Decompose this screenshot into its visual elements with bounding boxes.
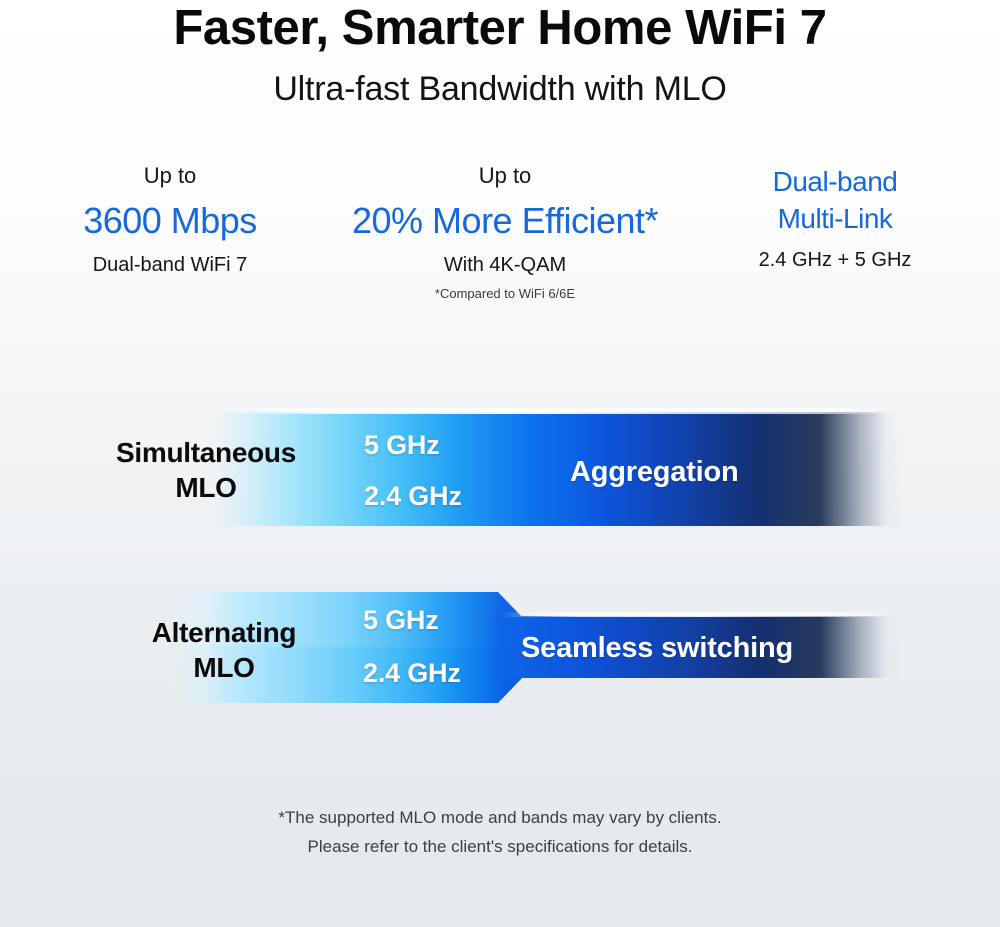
stat-footnote: *Compared to WiFi 6/6E	[340, 286, 670, 301]
page-subtitle: Ultra-fast Bandwidth with MLO	[0, 70, 1000, 109]
diagram-label-line1: Simultaneous	[86, 436, 326, 471]
band-label-24ghz: 2.4 GHz	[364, 481, 462, 512]
page-footnote: *The supported MLO mode and bands may va…	[0, 803, 1000, 862]
band-highlight-edge	[0, 408, 1000, 414]
stat-value: Dual-band Multi-Link	[670, 163, 1000, 237]
stat-card-efficiency: Up to 20% More Efficient* With 4K-QAM *C…	[340, 163, 670, 301]
diagram-label-line2: MLO	[86, 471, 326, 506]
wifi7-feature-page: Faster, Smarter Home WiFi 7 Ultra-fast B…	[0, 0, 1000, 927]
footnote-line2: Please refer to the client's specificati…	[0, 832, 1000, 861]
diagram-label-simultaneous: Simultaneous MLO	[86, 436, 326, 505]
stat-value-line2: Multi-Link	[670, 200, 1000, 237]
stat-caption: Dual-band WiFi 7	[0, 253, 340, 277]
stats-row: Up to 3600 Mbps Dual-band WiFi 7 Up to 2…	[0, 163, 1000, 301]
band-label-5ghz: 5 GHz	[364, 430, 440, 461]
stat-caption: With 4K-QAM	[340, 253, 670, 277]
stat-prefix: Up to	[0, 163, 340, 192]
page-title: Faster, Smarter Home WiFi 7	[0, 2, 1000, 55]
stat-card-multilink: Dual-band Multi-Link 2.4 GHz + 5 GHz	[670, 163, 1000, 272]
band-result-label: Seamless switching	[521, 632, 793, 665]
stat-value: 20% More Efficient*	[340, 200, 670, 242]
stat-value-line1: Dual-band	[670, 163, 1000, 200]
stat-value: 3600 Mbps	[0, 200, 340, 242]
footnote-line1: *The supported MLO mode and bands may va…	[0, 803, 1000, 832]
band-result-label: Aggregation	[570, 456, 739, 489]
stat-card-speed: Up to 3600 Mbps Dual-band WiFi 7	[0, 163, 340, 277]
diagram-label-alternating: Alternating MLO	[104, 616, 344, 685]
diagram-alternating-mlo: Alternating MLO 5 GHz 2.4 GHz Seamless s…	[0, 586, 1000, 708]
diagram-label-line2: MLO	[104, 651, 344, 686]
stat-caption: 2.4 GHz + 5 GHz	[670, 248, 1000, 272]
stat-prefix: Up to	[340, 163, 670, 192]
diagram-simultaneous-mlo: Simultaneous MLO 5 GHz 2.4 GHz Aggregati…	[0, 408, 1000, 530]
diagram-label-line1: Alternating	[104, 616, 344, 651]
band-label-5ghz: 5 GHz	[363, 605, 439, 636]
band-label-24ghz: 2.4 GHz	[363, 658, 461, 689]
